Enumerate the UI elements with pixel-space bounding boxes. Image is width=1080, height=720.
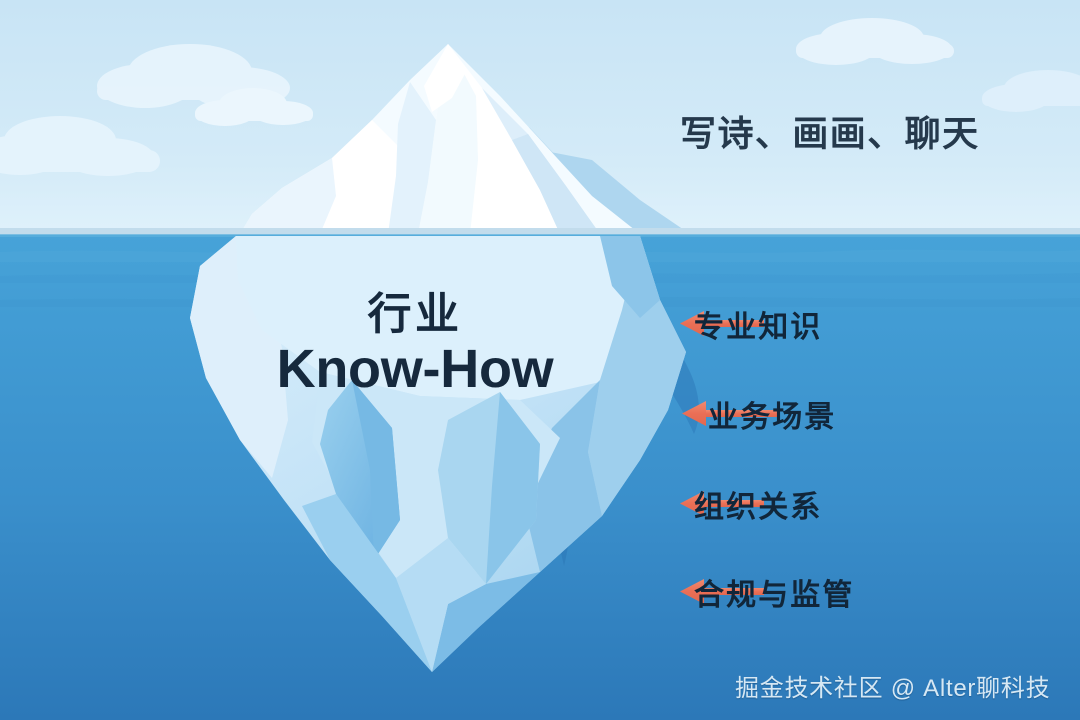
watermark-text: 掘金技术社区 @ Alter聊科技 — [735, 668, 1050, 703]
waterline-band — [0, 228, 1080, 235]
center-label-en: Know-How — [230, 339, 600, 399]
callout-label: 组织关系 — [694, 482, 822, 526]
callout-label: 合规与监管 — [694, 570, 855, 614]
callout-label: 专业知识 — [694, 302, 822, 346]
callout-compliance-regulation: 合规与监管 — [676, 571, 855, 613]
center-label-cn: 行业 — [230, 290, 600, 339]
headline-text: 写诗、画画、聊天 — [680, 105, 980, 157]
iceberg-center-label: 行业 Know-How — [230, 290, 600, 400]
iceberg-infographic: 写诗、画画、聊天 行业 Know-How 专业知识 业务场景 组织关系 合规与监… — [0, 0, 1080, 720]
callout-business-scenario: 业务场景 — [676, 393, 836, 435]
callout-specialized-knowledge: 专业知识 — [676, 303, 822, 345]
callout-label: 业务场景 — [708, 392, 836, 436]
callout-organizational-relations: 组织关系 — [676, 483, 822, 525]
